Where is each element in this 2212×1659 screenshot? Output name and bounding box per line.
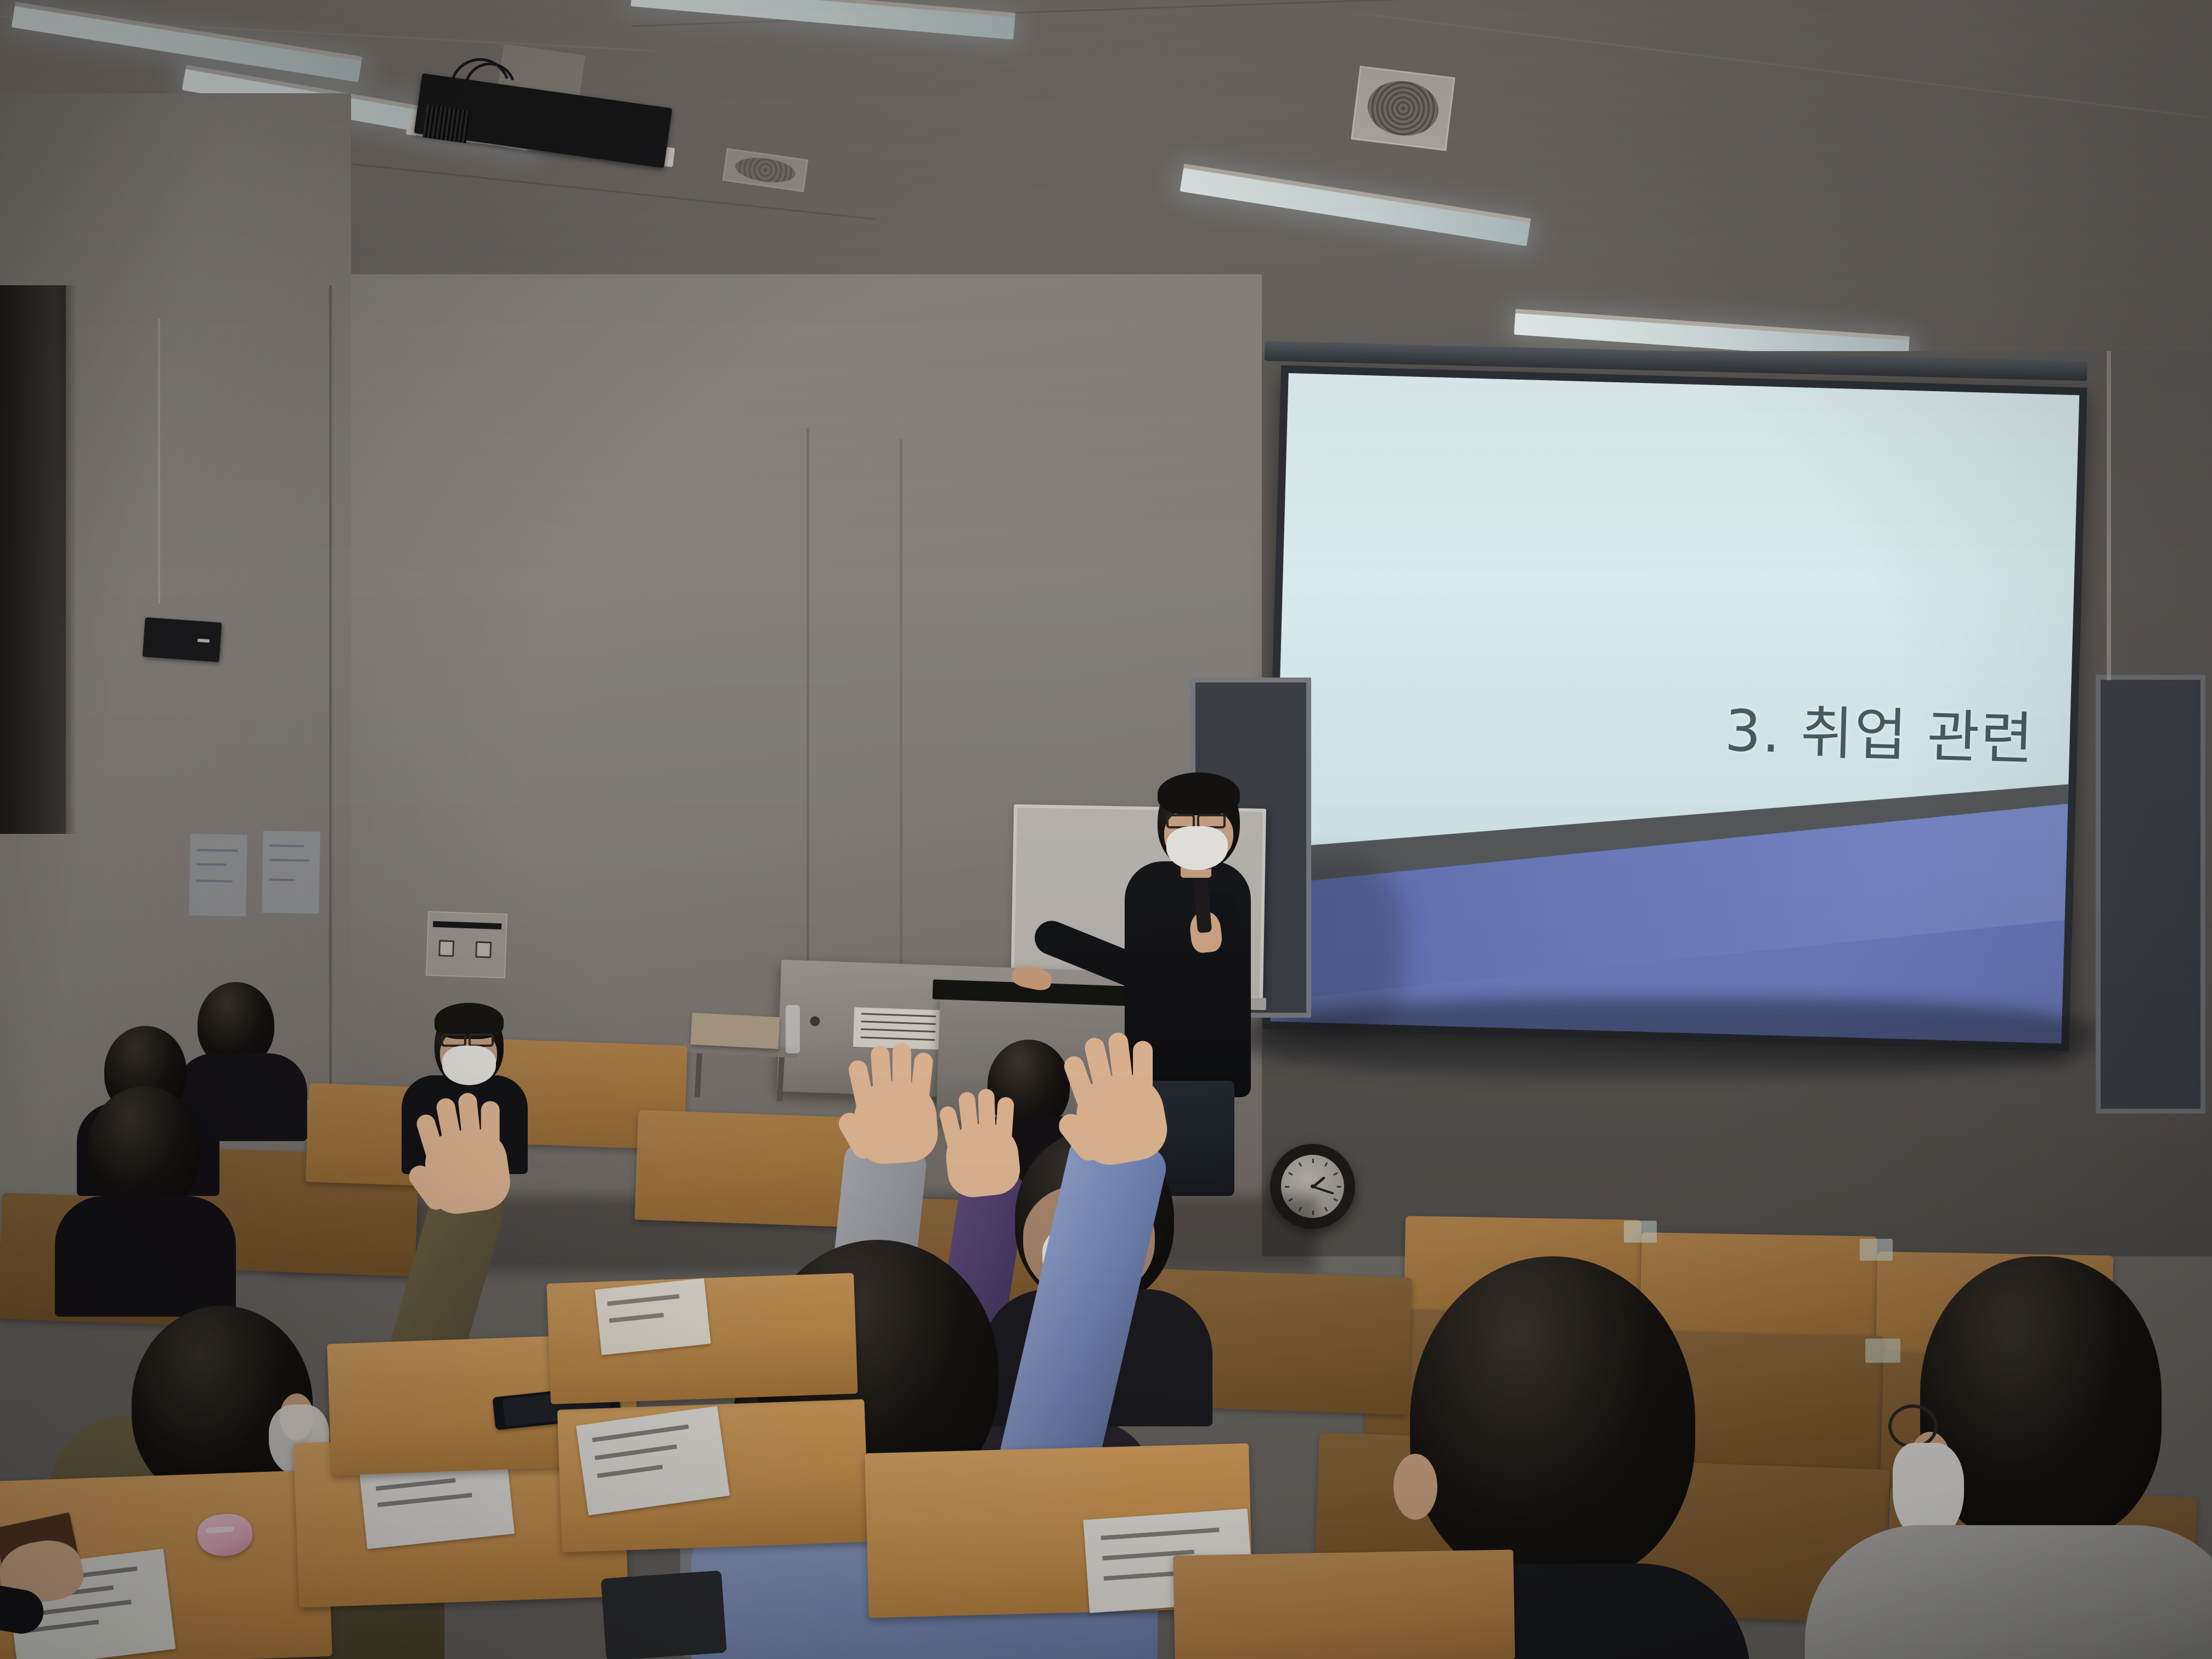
presenter-hair (1158, 772, 1240, 815)
student-glasses (469, 1034, 494, 1047)
panel-socket-right[interactable] (476, 941, 492, 958)
student-ear (1393, 1454, 1437, 1520)
seat-gap (1860, 1239, 1893, 1261)
wall-rail (2107, 351, 2111, 680)
student-glasses (1888, 1404, 1938, 1448)
speaker-conduit (158, 318, 160, 603)
wall-av-panel[interactable] (426, 911, 507, 979)
student-head (1410, 1256, 1695, 1585)
writing-hand (0, 1536, 110, 1646)
slide-title: 3. 취업 관련 (1724, 684, 2035, 775)
panel-socket-left[interactable] (438, 940, 454, 957)
room-corner-shadow (0, 285, 77, 834)
wall-speaker (143, 617, 222, 662)
wall-poster-right (262, 831, 321, 914)
raised-hand-olive (403, 1069, 525, 1219)
podium-knob[interactable] (810, 1016, 820, 1026)
seat-gap (1624, 1221, 1657, 1243)
backpack[interactable] (601, 1571, 727, 1659)
student-torso-hoodie (1805, 1525, 2212, 1659)
panel-header-bar (433, 921, 501, 930)
desk-front-right[interactable] (1173, 1550, 1515, 1659)
handout-paper[interactable] (595, 1278, 710, 1355)
ceiling-projector (417, 38, 675, 181)
speaker-led (198, 639, 210, 643)
wall-corner-edge (900, 439, 902, 1053)
lecture-hall-photo: 3. 취업 관련 (0, 0, 2212, 1659)
ceiling-vent-1 (1351, 66, 1455, 151)
wall-corner-edge (329, 285, 332, 1108)
student-right-grey-hoodie (1827, 1267, 2212, 1659)
student-glasses (441, 1034, 466, 1047)
wall-poster-left (189, 833, 248, 917)
presenter-face-mask (1166, 826, 1228, 870)
wall-board-right (2096, 675, 2205, 1114)
